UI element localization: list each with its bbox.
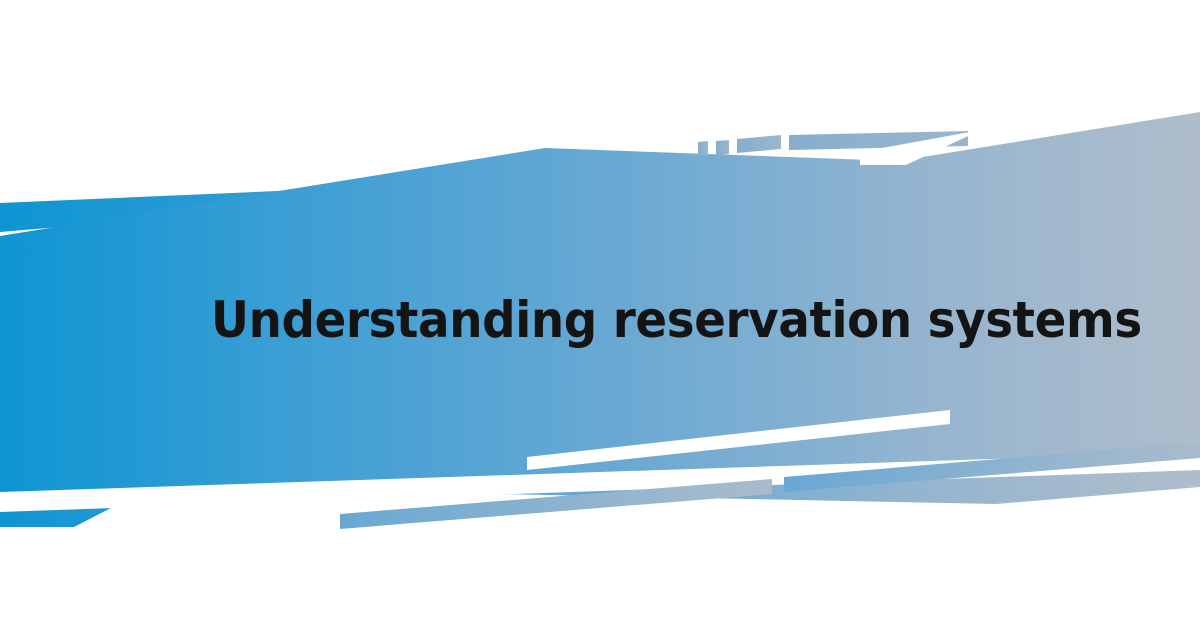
banner-graphic bbox=[0, 0, 1200, 630]
banner-root: Understanding reservation systems bbox=[0, 0, 1200, 630]
accent-dash-1 bbox=[698, 141, 708, 156]
accent-dash-2 bbox=[716, 140, 729, 155]
accent-dash-3 bbox=[737, 135, 781, 153]
